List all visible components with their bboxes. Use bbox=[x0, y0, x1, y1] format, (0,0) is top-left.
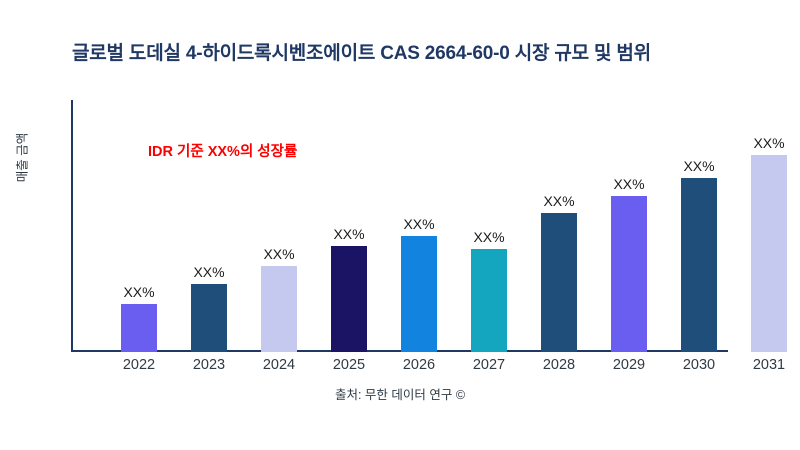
bar-group: XX% bbox=[734, 100, 800, 352]
bar-group: XX% bbox=[104, 100, 174, 352]
bar-2022[interactable] bbox=[121, 304, 157, 352]
chart-title: 글로벌 도데실 4-하이드록시벤조에이트 CAS 2664-60-0 시장 규모… bbox=[72, 38, 772, 65]
bar-group: XX% bbox=[454, 100, 524, 352]
bar-value-label-2027: XX% bbox=[473, 229, 504, 245]
bar-group: XX% bbox=[244, 100, 314, 352]
bar-value-label-2031: XX% bbox=[753, 135, 784, 151]
bar-group: XX% bbox=[594, 100, 664, 352]
x-tick-2028: 2028 bbox=[524, 357, 594, 373]
bar-2030[interactable] bbox=[681, 178, 717, 352]
y-axis-label: 매출 금액 bbox=[12, 123, 31, 193]
bar-2029[interactable] bbox=[611, 196, 647, 352]
bar-2024[interactable] bbox=[261, 266, 297, 352]
bar-2028[interactable] bbox=[541, 213, 577, 352]
x-tick-2031: 2031 bbox=[734, 357, 800, 373]
x-tick-2027: 2027 bbox=[454, 357, 524, 373]
bar-group: XX% bbox=[524, 100, 594, 352]
bar-group: XX% bbox=[664, 100, 734, 352]
chart-root: 글로벌 도데실 4-하이드록시벤조에이트 CAS 2664-60-0 시장 규모… bbox=[0, 0, 800, 450]
bar-value-label-2030: XX% bbox=[683, 158, 714, 174]
x-tick-2025: 2025 bbox=[314, 357, 384, 373]
bar-value-label-2023: XX% bbox=[193, 264, 224, 280]
x-tick-2024: 2024 bbox=[244, 357, 314, 373]
bar-group: XX% bbox=[384, 100, 454, 352]
bar-value-label-2025: XX% bbox=[333, 226, 364, 242]
bar-2026[interactable] bbox=[401, 236, 437, 352]
chart-source: 출처: 무한 데이터 연구 © bbox=[0, 384, 800, 403]
bar-value-label-2028: XX% bbox=[543, 193, 574, 209]
bar-2025[interactable] bbox=[331, 246, 367, 352]
bar-value-label-2026: XX% bbox=[403, 216, 434, 232]
x-tick-2023: 2023 bbox=[174, 357, 244, 373]
x-tick-2029: 2029 bbox=[594, 357, 664, 373]
bar-group: XX% bbox=[314, 100, 384, 352]
bar-2027[interactable] bbox=[471, 249, 507, 352]
bar-value-label-2024: XX% bbox=[263, 246, 294, 262]
x-tick-2030: 2030 bbox=[664, 357, 734, 373]
bar-2023[interactable] bbox=[191, 284, 227, 352]
bar-value-label-2029: XX% bbox=[613, 176, 644, 192]
bar-value-label-2022: XX% bbox=[123, 284, 154, 300]
x-tick-2022: 2022 bbox=[104, 357, 174, 373]
bar-2031[interactable] bbox=[751, 155, 787, 352]
x-tick-2026: 2026 bbox=[384, 357, 454, 373]
plot-area: XX%XX%XX%XX%XX%XX%XX%XX%XX%XX% bbox=[71, 100, 800, 352]
bar-group: XX% bbox=[174, 100, 244, 352]
